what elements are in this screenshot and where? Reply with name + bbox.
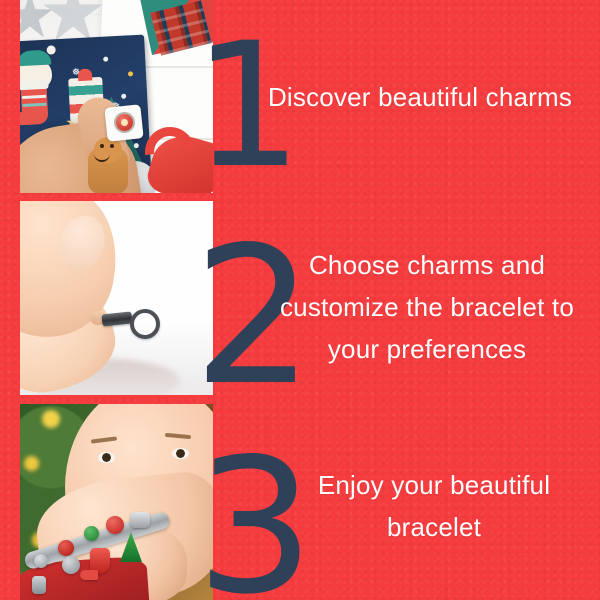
gold-dot bbox=[128, 71, 133, 76]
silver-bead bbox=[34, 554, 48, 568]
step-2-photo bbox=[20, 201, 213, 395]
santa-hat-icon bbox=[20, 50, 51, 67]
snow-dot bbox=[103, 57, 108, 62]
instructional-poster: ❅ ❅ ❅ 1 Discover beautiful charms bbox=[0, 0, 600, 600]
step-2-line-2: customize the bracelet to bbox=[255, 286, 599, 328]
snow-dot bbox=[121, 94, 126, 99]
step-1-line-1: Discover beautiful charms bbox=[248, 76, 592, 118]
step-2-line-3: your preferences bbox=[255, 328, 599, 370]
red-charm-bead bbox=[116, 114, 133, 131]
step-3-line-2: bracelet bbox=[262, 506, 600, 548]
step-1-photo: ❅ ❅ ❅ bbox=[20, 0, 213, 193]
bokeh-light bbox=[42, 410, 60, 428]
silver-charm bbox=[62, 556, 80, 574]
silver-charm-2 bbox=[32, 576, 46, 594]
bokeh-light bbox=[24, 456, 39, 471]
red-bead bbox=[58, 540, 74, 556]
red-bead bbox=[106, 516, 124, 534]
step-3-text: Enjoy your beautiful bracelet bbox=[262, 464, 600, 548]
step-3-photo bbox=[20, 404, 213, 600]
eye bbox=[98, 452, 115, 463]
green-bead bbox=[84, 526, 99, 541]
step-2-line-1: Choose charms and bbox=[255, 244, 599, 286]
eye bbox=[172, 448, 189, 459]
step-3-line-1: Enjoy your beautiful bbox=[262, 464, 600, 506]
step-1-text: Discover beautiful charms bbox=[248, 76, 592, 118]
snowflake-icon: ❅ bbox=[72, 68, 81, 78]
step-2-text: Choose charms and customize the bracelet… bbox=[255, 244, 599, 370]
snow-dot bbox=[134, 143, 139, 148]
stocking-charm-foot bbox=[80, 570, 98, 580]
silver-spacer bbox=[130, 512, 150, 528]
stocking-cuff bbox=[20, 80, 49, 91]
